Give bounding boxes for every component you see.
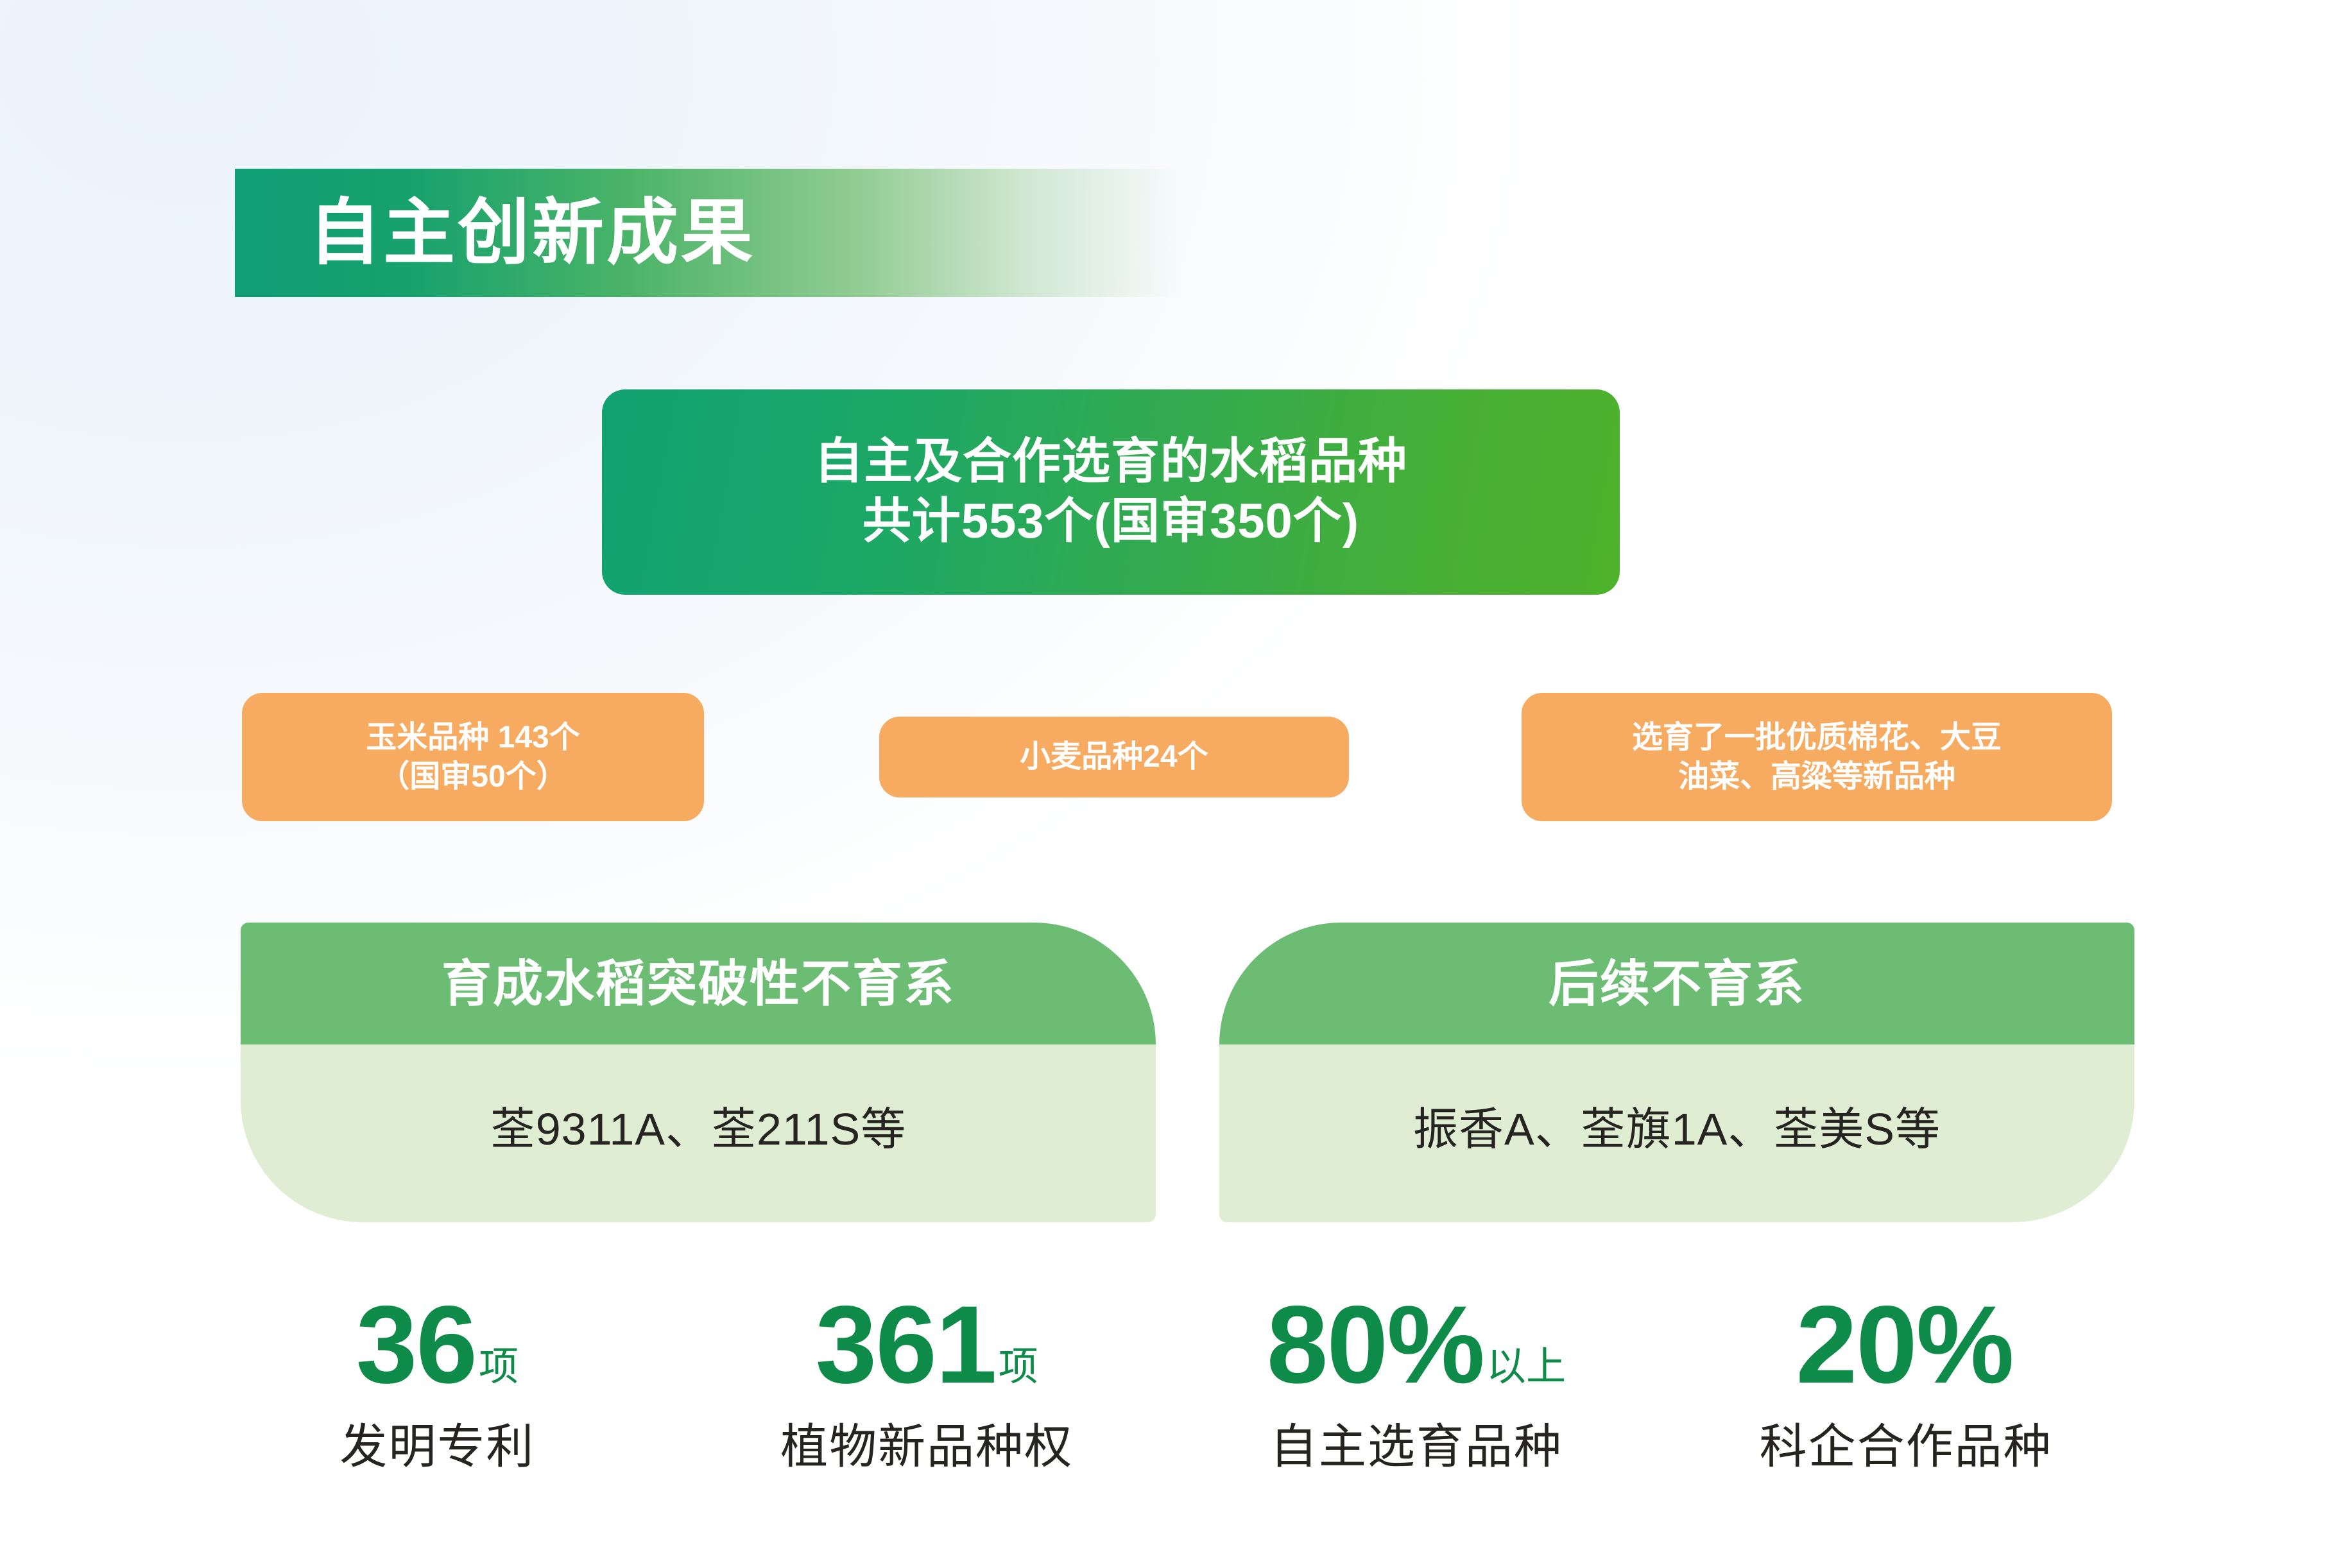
stat-invention-patents-label: 发明专利 (339, 1423, 535, 1470)
stat-self-bred-varieties-suffix: 以上 (1486, 1347, 1566, 1387)
orange-box-wheat: 小麦品种24个 (879, 717, 1349, 797)
title-banner: 自主创新成果 (235, 169, 1181, 297)
orange-box-corn-line-1: 玉米品种 143个 (366, 718, 579, 757)
stat-plant-variety-rights-value: 361 项 (816, 1290, 1038, 1400)
hero-line-2: 共计553个(国审350个) (863, 492, 1359, 552)
panel-followup-sterile-lines: 后续不育系 振香A、荃旗1A、荃美S等 (1219, 923, 2134, 1222)
stat-invention-patents-number: 36 (356, 1290, 476, 1400)
panel-breakthrough-sterile-lines: 育成水稻突破性不育系 荃9311A、荃211S等 (241, 923, 1156, 1222)
panel-breakthrough-sterile-lines-body: 荃9311A、荃211S等 (241, 1044, 1156, 1222)
stat-invention-patents-value: 36 项 (356, 1290, 519, 1400)
orange-box-wheat-line-1: 小麦品种24个 (1020, 737, 1208, 776)
stat-self-bred-varieties: 80% 以上 自主选育品种 (1172, 1290, 1661, 1527)
stat-plant-variety-rights-label: 植物新品种权 (780, 1423, 1073, 1470)
stat-invention-patents: 36 项 发明专利 (193, 1290, 682, 1527)
stat-industry-cooperation-varieties-value: 20% (1796, 1290, 2015, 1400)
panel-followup-sterile-lines-body: 振香A、荃旗1A、荃美S等 (1219, 1044, 2134, 1222)
stat-self-bred-varieties-number: 80% (1267, 1290, 1484, 1400)
stat-industry-cooperation-varieties-label: 科企合作品种 (1760, 1423, 2052, 1470)
panel-breakthrough-sterile-lines-value: 荃9311A、荃211S等 (490, 1107, 907, 1152)
stat-plant-variety-rights-number: 361 (816, 1290, 996, 1400)
stat-self-bred-varieties-value: 80% 以上 (1267, 1290, 1566, 1400)
panel-followup-sterile-lines-title: 后续不育系 (1549, 959, 1805, 1009)
panel-breakthrough-sterile-lines-header: 育成水稻突破性不育系 (241, 923, 1156, 1044)
stat-industry-cooperation-varieties-number: 20% (1796, 1290, 2013, 1400)
panel-followup-sterile-lines-value: 振香A、荃旗1A、荃美S等 (1413, 1107, 1941, 1152)
stat-plant-variety-rights-suffix: 项 (999, 1347, 1038, 1387)
stat-plant-variety-rights: 361 项 植物新品种权 (682, 1290, 1172, 1527)
hero-summary-card: 自主及合作选育的水稻品种 共计553个(国审350个) (602, 389, 1620, 595)
orange-box-other-crops-line-1: 选育了一批优质棉花、大豆 (1632, 718, 2002, 757)
stat-self-bred-varieties-label: 自主选育品种 (1270, 1423, 1563, 1470)
stat-industry-cooperation-varieties: 20% 科企合作品种 (1661, 1290, 2150, 1527)
panel-breakthrough-sterile-lines-title: 育成水稻突破性不育系 (442, 959, 955, 1009)
orange-box-corn-line-2: （国审50个） (379, 757, 567, 796)
stat-invention-patents-suffix: 项 (479, 1347, 519, 1387)
page-title: 自主创新成果 (309, 197, 755, 269)
stats-row: 36 项 发明专利 361 项 植物新品种权 80% 以上 自主选育品种 20%… (193, 1290, 2150, 1527)
hero-line-1: 自主及合作选育的水稻品种 (814, 432, 1407, 492)
orange-box-corn: 玉米品种 143个 （国审50个） (242, 693, 704, 821)
orange-box-other-crops-line-2: 油菜、高粱等新品种 (1678, 757, 1955, 796)
orange-box-other-crops: 选育了一批优质棉花、大豆 油菜、高粱等新品种 (1522, 693, 2112, 821)
panel-followup-sterile-lines-header: 后续不育系 (1219, 923, 2134, 1044)
